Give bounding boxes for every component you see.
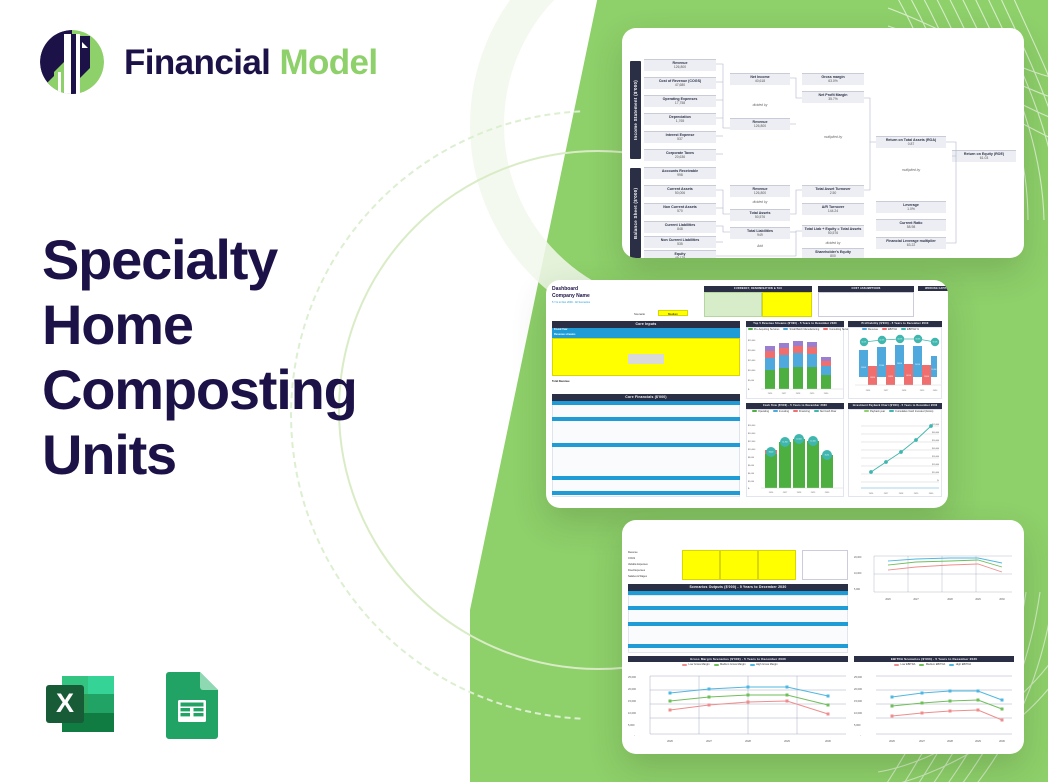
dupont-cell: Total Assets 50,576: [730, 209, 790, 221]
svg-text:$70,000: $70,000: [932, 424, 939, 426]
chart-ebitda-scenarios[interactable]: 25,00020,000 15,00010,000 5,000-: [854, 668, 1014, 744]
svg-text:13,800: 13,800: [870, 377, 875, 379]
svg-text:15,000: 15,000: [628, 699, 636, 703]
svg-text:10,000: 10,000: [854, 711, 862, 715]
svg-text:63.0%: 63.0%: [916, 339, 921, 341]
svg-text:2030: 2030: [929, 493, 934, 495]
income-statement-band: Income Statement ($'000): [630, 61, 641, 159]
svg-text:16,200: 16,200: [906, 375, 911, 377]
dupont-cell: Total Liab + Equity = Total Assets 50,57…: [802, 225, 864, 237]
chart-payback[interactable]: $70,000$60,000 $50,000$40,000 $30,000$20…: [848, 409, 942, 497]
dupont-operator: Add: [730, 244, 790, 248]
svg-text:2028: 2028: [745, 739, 751, 743]
dupont-cell: Depreciation 1,765: [644, 113, 716, 125]
app-icon-row: X: [40, 664, 232, 744]
core-inputs-fiscal-row: Fiscal Year: [552, 328, 740, 333]
core-financials-header: Core Financials ($'000): [552, 394, 740, 401]
svg-text:18,100: 18,100: [931, 369, 936, 371]
svg-text:$20,000: $20,000: [748, 350, 756, 352]
slide-canvas: Financial Model Specialty Home Compostin…: [0, 0, 1048, 782]
dupont-cell: Equity 49,178: [644, 250, 716, 258]
svg-text:15,820: 15,820: [888, 376, 893, 378]
svg-text:8,600: 8,600: [769, 452, 774, 454]
svg-text:$60,000: $60,000: [932, 432, 939, 434]
svg-text:2029: 2029: [914, 493, 919, 495]
chart-title-profitability: Profitability ($'000) - 5 Years to Decem…: [848, 321, 942, 327]
dupont-cell: Revenue 126,800: [730, 118, 790, 130]
svg-text:$20,000: $20,000: [932, 464, 939, 466]
brand-name-part1: Financial: [124, 43, 270, 82]
dupont-operator: multiplied by: [876, 168, 946, 172]
svg-text:20,000: 20,000: [854, 556, 862, 559]
dupont-cell: Financial Leverage multiplier 63.22: [876, 237, 946, 249]
svg-text:5,000: 5,000: [628, 723, 635, 727]
svg-text:$6,000: $6,000: [748, 465, 755, 467]
chart-title-ebitda-scenarios: EBITDA Scenarios ($'000) - 5 Years to De…: [854, 656, 1014, 662]
greyed-cells: [628, 354, 664, 364]
google-sheets-icon: [152, 664, 232, 744]
legend-profitability: Revenue EBITDA EBITDA %: [862, 328, 919, 331]
dupont-cell: Net Income 40,618: [730, 73, 790, 85]
dupont-operator: divided by: [730, 200, 790, 204]
dupont-cell: Net Profit Margin 35.7%: [802, 91, 864, 103]
svg-text:59.1%: 59.1%: [933, 342, 938, 344]
brand-wordmark: Financial Model: [124, 45, 378, 80]
dupont-cell: Return on Equity (ROE) 61.03: [952, 150, 1016, 162]
dupont-cell: Operating Expenses 17,758: [644, 95, 716, 107]
svg-text:2029: 2029: [975, 739, 981, 743]
assumption-values[interactable]: [762, 292, 812, 317]
svg-text:$15,000: $15,000: [748, 360, 756, 362]
dashboard-title-line1: Dashboard: [552, 286, 578, 292]
panel-header-currency: CURRENCY, DENOMINATION & TAX: [704, 286, 812, 292]
svg-text:63.1%: 63.1%: [898, 339, 903, 341]
outputs-ebitda-row: [628, 644, 848, 648]
screenshot-dupont-analysis[interactable]: Income Statement ($'000) Balance Sheet (…: [622, 28, 1024, 258]
svg-text:$16,000: $16,000: [748, 425, 756, 427]
screenshot-dashboard[interactable]: Dashboard Company Name 5 Yrs to Dec 2030…: [546, 280, 948, 508]
scenarios-sheet: Revenue COGS Variable Expenses Fixed Exp…: [622, 520, 1024, 754]
chart-profitability[interactable]: 60.1%62.5% 63.1%63.0%59.1% 23,80013,800 …: [848, 327, 942, 399]
svg-text:$-: $-: [748, 488, 750, 490]
legend-top5-revenue: Pre-Acquiring Services Small Batch Manuf…: [748, 328, 851, 331]
outputs-contribution-row: [628, 622, 848, 626]
screenshot-scenarios[interactable]: Revenue COGS Variable Expenses Fixed Exp…: [622, 520, 1024, 754]
svg-text:20,000: 20,000: [854, 687, 862, 691]
svg-text:2027: 2027: [884, 390, 889, 392]
svg-text:$10,000: $10,000: [748, 370, 756, 372]
svg-text:$50,000: $50,000: [932, 440, 939, 442]
balance-sheet-band: Balance Sheet ($'000): [630, 168, 641, 258]
microsoft-excel-icon: X: [40, 664, 120, 744]
svg-text:25,000: 25,000: [628, 675, 636, 679]
svg-text:28,800: 28,800: [897, 363, 902, 365]
svg-text:$4,000: $4,000: [748, 473, 755, 475]
svg-text:$-: $-: [748, 389, 750, 391]
dupont-cell: Total Asset Turnover 2.50: [802, 185, 864, 197]
svg-text:2029: 2029: [784, 739, 790, 743]
left-content-panel: Financial Model Specialty Home Compostin…: [0, 0, 470, 782]
svg-text:2026: 2026: [768, 393, 773, 395]
chart-title-gross-margin-scenarios: Gross Margin Scenarios ($'000) - 5 Years…: [628, 656, 848, 662]
chart-cashflow[interactable]: $16,000$14,000 $12,000$10,000 $8,000$6,0…: [746, 409, 844, 497]
svg-text:2026: 2026: [869, 493, 874, 495]
dupont-cell: Current Liabilities 848: [644, 221, 716, 233]
svg-text:25,000: 25,000: [854, 675, 862, 679]
svg-text:2026: 2026: [866, 390, 871, 392]
svg-text:23,800: 23,800: [861, 367, 866, 369]
svg-text:10,000: 10,000: [854, 572, 862, 575]
scenario-label: Scenario: [634, 312, 645, 316]
svg-text:2028: 2028: [947, 739, 953, 743]
dupont-cell: Current Ratio 58.98: [876, 219, 946, 231]
svg-text:11,750: 11,750: [782, 442, 787, 444]
svg-text:20,000: 20,000: [628, 687, 636, 691]
legend-cashflow: Operating Investing Financing Net Cash F…: [752, 410, 836, 413]
core-financials-table: [552, 401, 740, 497]
svg-text:2028: 2028: [899, 493, 904, 495]
svg-text:2029: 2029: [920, 390, 925, 392]
chart-title-payback: Investment Payback Chart ($'000) - 5 Yea…: [848, 403, 942, 409]
dupont-cell: Current Assets 50,006: [644, 185, 716, 197]
scenario-high-inputs[interactable]: [758, 550, 796, 580]
svg-text:2027: 2027: [913, 598, 919, 601]
dupont-operator: multiplied by: [802, 135, 864, 139]
dupont-cell: Total Liabilities 949: [730, 227, 790, 239]
dupont-cell: Interest Expense 537: [644, 131, 716, 143]
svg-text:$12,000: $12,000: [748, 441, 756, 443]
dupont-operator: divided by: [802, 241, 864, 245]
svg-text:-: -: [634, 734, 635, 737]
dupont-operator: divided by: [730, 103, 790, 107]
cf-npat-row: [552, 476, 740, 480]
svg-text:15,600: 15,600: [924, 376, 929, 378]
svg-text:2028: 2028: [902, 390, 907, 392]
panel-header-wc: WORKING CAPITAL & DEPRECIATION: [918, 286, 948, 291]
svg-text:2027: 2027: [884, 493, 889, 495]
svg-text:2030: 2030: [825, 492, 830, 494]
svg-text:$10,000: $10,000: [748, 449, 756, 451]
svg-text:$25,000: $25,000: [748, 340, 756, 342]
chart-revenue-scenarios-top[interactable]: 20,00010,0005,000 20262027 202820292030: [854, 550, 1014, 610]
dupont-cell: Shareholder's Equity 800: [802, 248, 864, 258]
cf-ebitda-row: [552, 443, 740, 447]
total-revenue-label: Total Revenue: [552, 380, 570, 383]
dupont-cell: A/R Turnover 144.24: [802, 203, 864, 215]
svg-text:2029: 2029: [975, 598, 981, 601]
chart-title-top5-revenue: Top 5 Revenue Streams ($'000) - 5 Years …: [746, 321, 844, 327]
brand-name-part2: Model: [279, 43, 377, 82]
revenue-streams-row: Revenue streams: [552, 333, 740, 338]
dashboard-title-line2: Company Name: [552, 293, 590, 299]
legend-gross-margin: Low Gross Margin Medium Gross Margin Hig…: [682, 663, 778, 666]
legend-payback: Payback year Cumulative Cash Invested (G…: [864, 410, 933, 413]
svg-text:$30,000: $30,000: [932, 456, 939, 458]
svg-text:60.1%: 60.1%: [862, 342, 867, 344]
svg-text:2027: 2027: [783, 492, 788, 494]
dupont-cell: Revenue 126,800: [730, 185, 790, 197]
svg-text:$14,000: $14,000: [748, 433, 756, 435]
svg-text:$40,000: $40,000: [932, 448, 939, 450]
svg-text:2030: 2030: [999, 739, 1005, 743]
dashboard-sheet: Dashboard Company Name 5 Yrs to Dec 2030…: [546, 280, 948, 508]
core-inputs-header: Core Inputs: [552, 321, 740, 328]
svg-text:8,251: 8,251: [825, 455, 830, 457]
svg-text:2027: 2027: [782, 393, 787, 395]
scenario-input-labels: Revenue COGS Variable Expenses Fixed Exp…: [628, 550, 682, 580]
scenario-active-column: [802, 550, 848, 580]
assumption-labels: [704, 292, 762, 317]
dupont-cell: Accounts Receivable 998: [644, 167, 716, 179]
svg-text:27,064: 27,064: [879, 365, 884, 367]
brand-logo: Financial Model: [38, 28, 378, 96]
chart-title-cashflow: Cash flow ($'000) - 5 Years to December …: [746, 403, 844, 409]
dupont-cell: Corporate Taxes 20,636: [644, 149, 716, 161]
cf-header-row: [552, 401, 740, 405]
dupont-cell: Return on Total Assets (ROA) 0.87: [876, 136, 946, 148]
pie-chart-logo-icon: [38, 28, 106, 96]
scenario-select[interactable]: Medium: [658, 310, 688, 316]
scenarios-outputs-header: Scenarios Outputs ($'000) - 5 Years to D…: [628, 584, 848, 591]
dupont-sheet: Income Statement ($'000) Balance Sheet (…: [622, 28, 1024, 258]
svg-text:2027: 2027: [706, 739, 712, 743]
dupont-cell: Cost of Revenue (COGS) 47,680: [644, 77, 716, 89]
svg-text:29,100: 29,100: [915, 364, 920, 366]
svg-text:2028: 2028: [947, 598, 953, 601]
svg-text:X: X: [56, 688, 74, 718]
dupont-cell: Non Current Liabilities 535: [644, 236, 716, 248]
svg-text:2028: 2028: [797, 492, 802, 494]
svg-text:2026: 2026: [889, 739, 895, 743]
dupont-cell: Gross margin 63.0%: [802, 73, 864, 85]
dashboard-subtitle: 5 Yrs to Dec 2030 - All Scenarios: [552, 301, 590, 304]
svg-text:5,000: 5,000: [854, 588, 861, 591]
panel-header-cost: COST ASSUMPTIONS: [818, 286, 914, 292]
svg-text:15,000: 15,000: [854, 699, 862, 703]
svg-text:2026: 2026: [885, 598, 891, 601]
legend-ebitda: Low EBITDA Medium EBITDA High EBITDA: [894, 663, 971, 666]
svg-text:$2,000: $2,000: [748, 481, 755, 483]
svg-text:$5,000: $5,000: [748, 380, 755, 382]
svg-text:2030: 2030: [933, 390, 938, 392]
svg-text:5,000: 5,000: [854, 723, 861, 727]
cost-panel: [818, 292, 914, 317]
svg-text:2029: 2029: [810, 393, 815, 395]
cf-cash-row: [552, 491, 740, 495]
svg-text:62.5%: 62.5%: [880, 340, 885, 342]
svg-text:2026: 2026: [667, 739, 673, 743]
svg-text:2028: 2028: [796, 393, 801, 395]
svg-text:2030: 2030: [999, 598, 1005, 601]
svg-text:$10,000: $10,000: [932, 472, 939, 474]
cf-gross-margin-row: [552, 417, 740, 421]
dupont-cell: Non Current Assets 570: [644, 203, 716, 215]
chart-top5-revenue[interactable]: $25,000$20,000 $15,000$10,000 $5,000$-: [746, 327, 844, 399]
dupont-cell: Leverage 1.0%: [876, 201, 946, 213]
svg-text:2027: 2027: [919, 739, 925, 743]
svg-text:12,100: 12,100: [810, 441, 816, 443]
scenario-low-inputs[interactable]: [682, 550, 720, 580]
chart-gross-margin-scenarios[interactable]: 25,00020,000 15,00010,000 5,000-: [628, 668, 848, 744]
svg-text:10,000: 10,000: [628, 711, 636, 715]
scenario-medium-inputs[interactable]: [720, 550, 758, 580]
outputs-gross-margin-row: [628, 606, 848, 610]
svg-text:2026: 2026: [769, 492, 774, 494]
svg-text:2029: 2029: [811, 492, 816, 494]
dupont-cell: Revenue 126,800: [644, 59, 716, 71]
svg-text:2030: 2030: [825, 739, 831, 743]
svg-text:-: -: [860, 734, 861, 737]
svg-text:$-: $-: [937, 480, 939, 482]
svg-text:12,500: 12,500: [796, 439, 802, 441]
page-title: Specialty Home Composting Units: [42, 228, 442, 488]
svg-text:$8,000: $8,000: [748, 457, 755, 459]
svg-text:2030: 2030: [824, 393, 829, 395]
